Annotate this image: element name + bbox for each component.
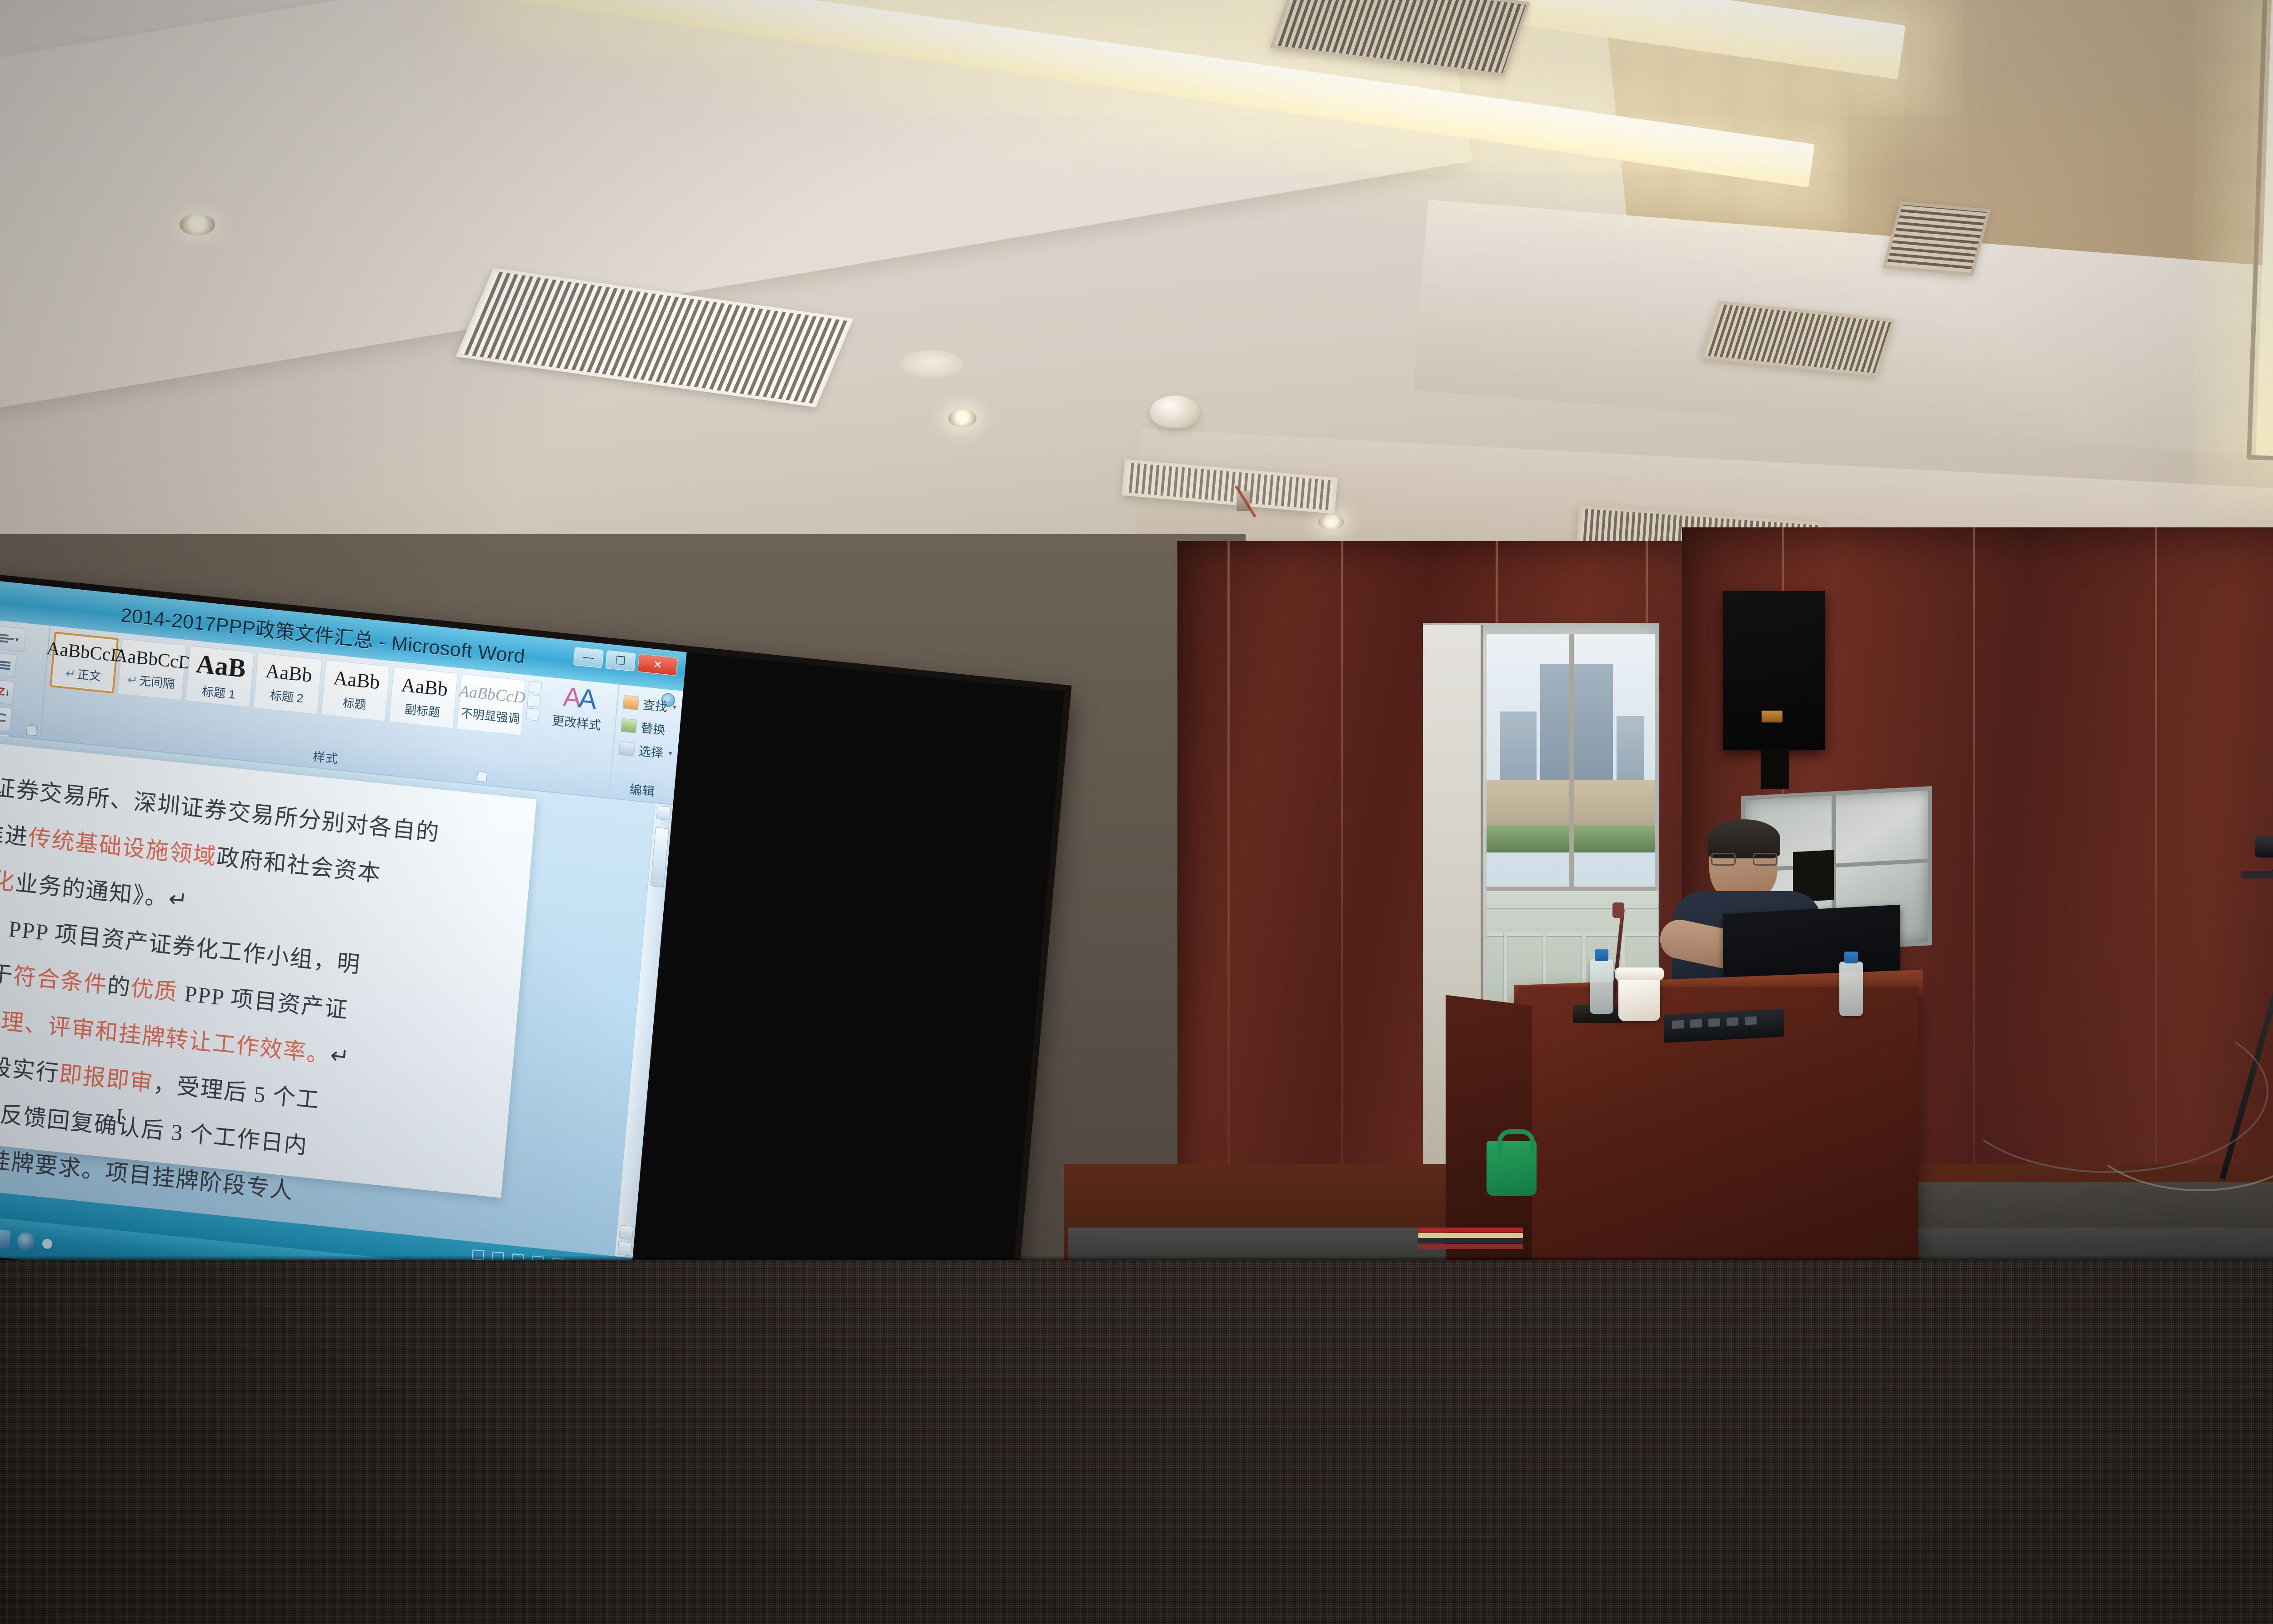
book	[1418, 1233, 1523, 1238]
speaker-mount-stem	[1761, 748, 1789, 789]
gallery-more-icon[interactable]	[526, 708, 540, 721]
downlight-1	[180, 214, 215, 236]
wall-speaker	[1723, 591, 1825, 750]
ceiling	[0, 0, 2273, 605]
speaker-brand-logo-icon	[1762, 711, 1782, 722]
style-card-subtle-emphasis[interactable]: AaBbCcD 不明显强调	[457, 674, 526, 736]
style-card-title[interactable]: AaBb 标题	[321, 660, 390, 722]
select-icon	[619, 741, 635, 756]
change-styles-AA-icon: AA	[562, 684, 596, 712]
window-controls[interactable]: — ❐ ✕	[573, 647, 678, 676]
style-sample: AaBbCcD	[459, 682, 526, 706]
water-bottle	[1839, 962, 1863, 1016]
style-card-wujiange[interactable]: AaBbCcD ↵无间隔	[118, 639, 187, 701]
style-sample: AaBbCcD	[114, 646, 193, 672]
style-sample: AaBbCcD	[46, 639, 125, 665]
control-panel-key[interactable]	[1745, 1016, 1757, 1025]
style-name: 标题 1	[201, 682, 236, 702]
sort-az-icon[interactable]: AZ↓	[0, 679, 15, 705]
balcony-railing-mid	[1487, 932, 1658, 936]
style-name: ↵无间隔	[127, 670, 175, 692]
balcony-railing-top	[1487, 903, 1658, 908]
book	[1418, 1228, 1523, 1233]
scroll-down-button[interactable]	[619, 1225, 634, 1240]
city-tower-right	[1617, 716, 1644, 784]
wood-seam	[1227, 541, 1230, 1268]
book	[1418, 1244, 1523, 1249]
stack-of-books	[1418, 1228, 1523, 1248]
chevron-down-icon[interactable]: ▾	[672, 702, 676, 711]
lidded-tea-cup	[1618, 977, 1660, 1021]
updates-icon[interactable]	[42, 1238, 53, 1249]
conference-room-photo: 2014-2017PPP政策文件汇总 - Microsoft Word — ❐ …	[0, 0, 2273, 1624]
style-name: ↵正文	[65, 664, 102, 684]
style-sample: AaBb	[401, 675, 449, 699]
ceiling-dome-fixture	[900, 350, 964, 378]
increase-indent-icon[interactable]	[0, 652, 17, 678]
style-name: 标题	[342, 693, 367, 712]
window-mullion-vertical	[1569, 634, 1574, 889]
document-canvas[interactable]: ，上海证券交易所、深圳证券交易所分别对各自的 布了《关于推进传统基础设施领域政府…	[0, 731, 673, 1258]
letterbox-band	[0, 1260, 2273, 1624]
style-name: 标题 2	[270, 686, 305, 706]
style-card-heading-2[interactable]: AaBb 标题 2	[253, 653, 322, 715]
replace-icon	[621, 718, 637, 733]
smoke-detector	[1150, 396, 1200, 428]
camera-mount-plate	[2241, 871, 2273, 878]
styles-gallery-scroll[interactable]	[526, 681, 542, 721]
wood-seam	[1341, 541, 1343, 1268]
city-tower-main	[1540, 664, 1613, 787]
style-sample: AaBb	[333, 667, 381, 692]
change-styles-label: 更改样式	[551, 711, 602, 733]
floor-cable-2	[1950, 1009, 2268, 1173]
video-camera	[2255, 836, 2273, 857]
styles-dialog-launcher[interactable]	[477, 772, 488, 782]
find-icon	[623, 695, 639, 710]
hvac-vent-4	[1882, 201, 1991, 276]
style-name: 副标题	[404, 700, 441, 720]
tea-cup-lid	[1615, 967, 1664, 980]
style-name: 不明显强调	[461, 704, 521, 727]
scroll-up-button[interactable]	[656, 806, 671, 821]
style-card-subtitle[interactable]: AaBb 副标题	[389, 667, 458, 728]
change-styles-button[interactable]: AA 更改样式	[542, 682, 614, 734]
downlight-2	[948, 409, 976, 427]
multilevel-list-icon[interactable]: ▾	[0, 625, 26, 652]
minimize-button[interactable]: —	[573, 647, 604, 668]
browser-icon[interactable]	[16, 1232, 36, 1252]
paragraph-dialog-launcher[interactable]	[26, 725, 37, 736]
style-card-zhengwen[interactable]: AaBbCcD ↵正文	[50, 632, 119, 693]
select-label: 选择	[638, 741, 664, 761]
gallery-scroll-up-icon[interactable]	[529, 681, 542, 694]
word-application-window: 2014-2017PPP政策文件汇总 - Microsoft Word — ❐ …	[0, 577, 686, 1323]
gallery-scroll-down-icon[interactable]	[527, 694, 541, 707]
control-panel-key[interactable]	[1672, 1020, 1684, 1029]
replace-label: 替换	[640, 718, 666, 738]
ribbon-group-editing[interactable]: 查找 ▾ 替换 选择 ▾ 编辑	[609, 684, 683, 804]
downlight-3	[1318, 514, 1344, 530]
microphone-head-icon	[1612, 902, 1624, 918]
control-panel-key[interactable]	[1690, 1019, 1702, 1028]
select-button[interactable]: 选择 ▾	[617, 737, 674, 764]
control-panel-key[interactable]	[1727, 1017, 1738, 1026]
letterbox-edge	[0, 1256, 2273, 1260]
folder-icon[interactable]	[0, 1229, 11, 1249]
style-card-heading-1[interactable]: AaB 标题 1	[185, 646, 255, 707]
green-tote-bag	[1487, 1141, 1537, 1196]
find-label: 查找	[642, 695, 668, 715]
maximize-button[interactable]: ❐	[605, 650, 636, 671]
chevron-down-icon[interactable]: ▾	[668, 749, 672, 757]
document-page[interactable]: ，上海证券交易所、深圳证券交易所分别对各自的 布了《关于推进传统基础设施领域政府…	[0, 731, 536, 1198]
control-panel-key[interactable]	[1708, 1018, 1720, 1027]
close-button[interactable]: ✕	[637, 654, 678, 676]
style-sample: AaBb	[265, 661, 313, 685]
presenter-glasses-icon	[1711, 853, 1777, 866]
water-bottle	[1590, 959, 1613, 1014]
select-browse-object-button[interactable]	[617, 1241, 632, 1256]
align-left-icon[interactable]	[0, 706, 12, 732]
scrollbar-thumb[interactable]	[650, 827, 669, 887]
style-sample: AaB	[195, 650, 247, 682]
book	[1418, 1238, 1523, 1243]
